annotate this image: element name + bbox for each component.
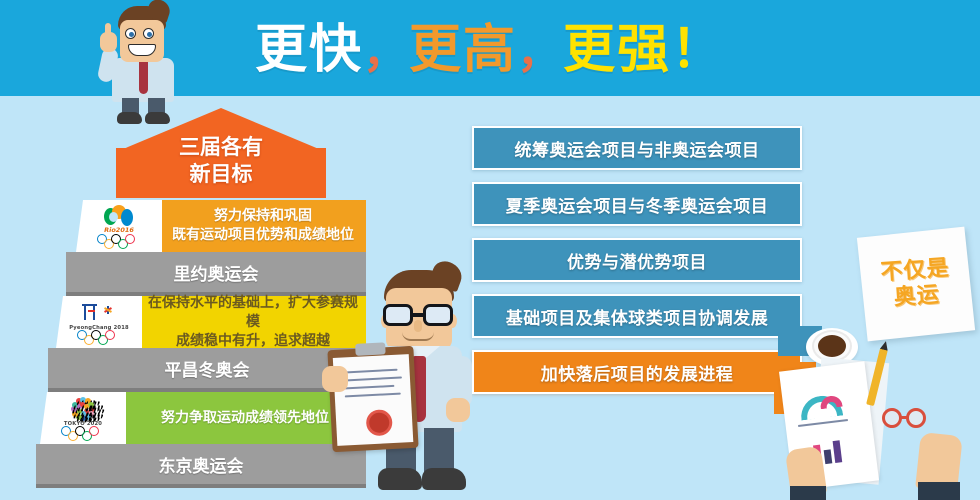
apex-line-1: 三届各有: [116, 134, 326, 161]
rio-mark-icon: [104, 205, 134, 227]
pyramid-tier-rio-games-bar: 里约奥运会: [66, 252, 366, 296]
infographic-canvas: 更快，更高，更强！ 三届各有 新目标: [0, 0, 980, 500]
eye-left: [125, 28, 136, 39]
sticky-note: 不仅是 奥运: [857, 227, 975, 342]
tier-rio-line-1: 努力保持和巩固: [172, 207, 354, 226]
pyramid-apex-label: 三届各有 新目标: [116, 116, 326, 198]
tier-tokyo-games-label: 东京奥运会: [36, 444, 366, 484]
tier-rio-games-label: 里约奥运会: [66, 252, 366, 292]
left-hand: [322, 366, 348, 392]
pyramid-tier-rio-content: Rio2016 努力保持和巩固 既有运动项目优势和成绩地位: [76, 200, 366, 252]
title-part-2: 更高: [409, 20, 517, 80]
desk-scene-illustration: [778, 330, 980, 500]
apex-line-2: 新目标: [116, 161, 326, 188]
pyramid-tier-pyeongchang-games-bar: 平昌冬奥会: [48, 348, 366, 392]
red-eyeglasses-icon: [882, 408, 930, 432]
shoe-left: [378, 468, 422, 490]
rio-2016-logo: Rio2016: [87, 204, 151, 248]
nose: [414, 320, 422, 332]
panel-item-4[interactable]: 基础项目及集体球类项目协调发展: [472, 294, 802, 338]
sleeve-cuff-right: [918, 482, 960, 500]
shoe-right: [422, 468, 466, 490]
tier-pyeongchang-line-1: 在保持水平的基础上，扩大参赛规模: [148, 294, 358, 332]
title-comma-1: ，: [363, 27, 409, 78]
sticky-note-line-1: 不仅是: [880, 257, 951, 286]
smile: [402, 332, 434, 341]
title-comma-2: ，: [517, 27, 563, 78]
title-part-1: 更快: [255, 20, 363, 80]
right-hand: [446, 398, 470, 422]
sticky-note-line-2: 奥运: [893, 283, 941, 310]
pyramid-diagram: 三届各有 新目标 Rio2016 努力保持和巩固 既有运动项目优势和成绩地位: [36, 108, 366, 448]
sticky-note-text: 不仅是 奥运: [859, 228, 974, 339]
pyeongchang-2018-logo: PyeongChang 2018: [67, 300, 131, 344]
pyramid-tier-tokyo-content: TOKYO 2020 努力争取运动成绩领先地位: [40, 392, 366, 444]
panel-item-2[interactable]: 夏季奥运会项目与冬季奥运会项目: [472, 182, 802, 226]
olympic-rings-icon: [61, 426, 105, 438]
strategy-list-panel: 统筹奥运会项目与非奥运会项目 夏季奥运会项目与冬季奥运会项目 优势与潜优势项目 …: [472, 126, 802, 406]
pyeongchang-mark-icon: [82, 302, 116, 322]
pointing-hand-icon: [100, 32, 117, 52]
star-icon: [101, 302, 115, 318]
olympic-rings-icon: [97, 234, 141, 246]
tier-rio-text: 努力保持和巩固 既有运动项目优势和成绩地位: [164, 200, 362, 252]
panel-item-5[interactable]: 加快落后项目的发展进程: [472, 350, 802, 394]
panel-item-1[interactable]: 统筹奥运会项目与非奥运会项目: [472, 126, 802, 170]
tier-pyeongchang-games-label: 平昌冬奥会: [48, 348, 366, 388]
panel-item-3[interactable]: 优势与潜优势项目: [472, 238, 802, 282]
rio-logo-caption: Rio2016: [87, 226, 151, 234]
tokyo-floral-mark-icon: [70, 396, 96, 422]
wax-seal-icon: [366, 409, 393, 436]
tokyo-2020-logo-chip: TOKYO 2020: [40, 392, 126, 444]
pyeongchang-2018-logo-chip: PyeongChang 2018: [56, 296, 142, 348]
coffee-liquid: [818, 335, 846, 357]
necktie: [139, 60, 148, 94]
tokyo-2020-logo: TOKYO 2020: [51, 396, 115, 440]
title-part-3: 更强！: [563, 20, 725, 80]
olympic-rings-icon: [77, 330, 121, 342]
eye-right: [143, 28, 154, 39]
sleeve-cuff-left: [790, 486, 826, 500]
pyramid-apex: 三届各有 新目标: [116, 108, 326, 198]
tier-tokyo-line-1: 努力争取运动成绩领先地位: [161, 409, 329, 428]
tier-pyeongchang-line-2: 成绩稳中有升，追求超越: [148, 332, 358, 351]
tier-tokyo-text: 努力争取运动成绩领先地位: [128, 392, 362, 444]
pyramid-tier-pyeongchang-content: PyeongChang 2018 在保持水平的基础上，扩大参赛规模 成绩稳中有升…: [56, 296, 366, 348]
tier-rio-line-2: 既有运动项目优势和成绩地位: [172, 226, 354, 245]
pointing-businessman-illustration: [98, 2, 190, 114]
pyramid-tier-tokyo-games-bar: 东京奥运会: [36, 444, 366, 488]
rio-2016-logo-chip: Rio2016: [76, 200, 162, 252]
tier-pyeongchang-text: 在保持水平的基础上，扩大参赛规模 成绩稳中有升，追求超越: [144, 296, 362, 348]
